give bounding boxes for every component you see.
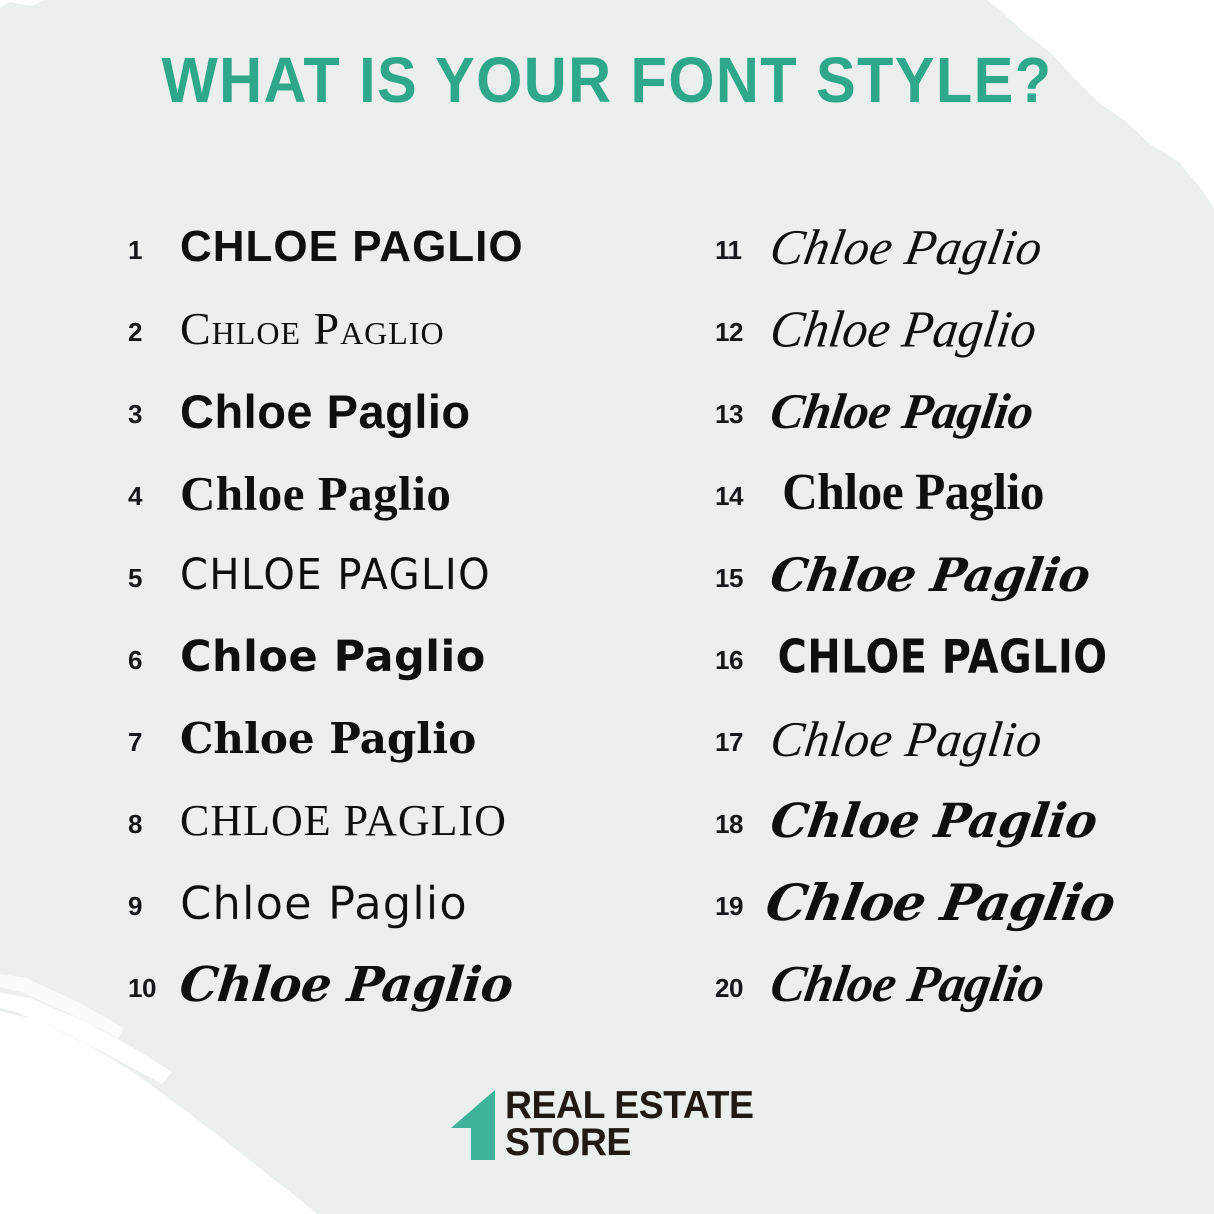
logo-line-2: STORE bbox=[505, 1124, 754, 1161]
list-item-number: 18 bbox=[715, 805, 771, 837]
list-item-number: 14 bbox=[715, 477, 771, 509]
font-sample-10: Chloe Paglio bbox=[177, 961, 629, 1009]
font-sample-14: Chloe Paglio bbox=[782, 467, 1203, 519]
list-item-number: 3 bbox=[128, 395, 180, 427]
page-title: WHAT IS YOUR FONT STYLE? bbox=[42, 48, 1171, 112]
list-item-number: 15 bbox=[715, 559, 771, 591]
list-item[interactable]: 2 Chloe Paglio bbox=[128, 288, 627, 370]
font-sample-18: Chloe Paglio bbox=[768, 798, 1214, 845]
font-sample-11: Chloe Paglio bbox=[767, 222, 1214, 272]
font-specimen-list: 1 Chloe Paglio 2 Chloe Paglio 3 Chloe Pa… bbox=[0, 206, 1214, 1036]
font-sample-7: Chloe Paglio bbox=[180, 718, 627, 760]
font-sample-8: Chloe Paglio bbox=[180, 799, 627, 843]
list-item[interactable]: 14 Chloe Paglio bbox=[715, 452, 1214, 534]
logo-inner: REAL ESTATE STORE bbox=[451, 1087, 764, 1162]
brush-stroke-top-left-icon bbox=[0, 0, 66, 36]
list-item[interactable]: 9 Chloe Paglio bbox=[128, 862, 627, 944]
logo-wordmark: REAL ESTATE STORE bbox=[505, 1087, 764, 1162]
list-item[interactable]: 4 Chloe Paglio bbox=[128, 452, 627, 534]
list-item[interactable]: 7 Chloe Paglio bbox=[128, 698, 627, 780]
list-item-number: 2 bbox=[128, 313, 180, 345]
font-sample-17: Chloe Paglio bbox=[768, 714, 1214, 764]
font-sample-13: Chloe Paglio bbox=[767, 386, 1214, 436]
list-item-number: 4 bbox=[128, 477, 180, 509]
font-sample-12: Chloe Paglio bbox=[767, 303, 1214, 355]
list-item[interactable]: 17 Chloe Paglio bbox=[715, 698, 1214, 780]
list-item[interactable]: 6 Chloe Paglio bbox=[128, 616, 627, 698]
font-sample-6: Chloe Paglio bbox=[180, 636, 627, 679]
list-item[interactable]: 1 Chloe Paglio bbox=[128, 206, 627, 288]
font-sample-16: Chloe Paglio bbox=[778, 634, 1208, 680]
font-sample-4: Chloe Paglio bbox=[180, 469, 627, 518]
list-item-number: 11 bbox=[715, 231, 771, 263]
font-sample-2: Chloe Paglio bbox=[180, 306, 627, 352]
list-item-number: 9 bbox=[128, 887, 180, 919]
font-sample-20: Chloe Paglio bbox=[767, 959, 1214, 1011]
list-item-number: 6 bbox=[128, 641, 180, 673]
list-item-number: 8 bbox=[128, 805, 180, 837]
list-item-number: 13 bbox=[715, 395, 771, 427]
list-item-number: 12 bbox=[715, 313, 771, 345]
list-item-number: 10 bbox=[128, 969, 180, 1001]
list-item-number: 19 bbox=[715, 887, 771, 919]
list-item-number: 1 bbox=[128, 231, 180, 263]
list-item[interactable]: 18 Chloe Paglio bbox=[715, 780, 1214, 862]
font-sample-19: Chloe Paglio bbox=[762, 878, 1214, 928]
list-item[interactable]: 8 Chloe Paglio bbox=[128, 780, 627, 862]
list-item[interactable]: 12 Chloe Paglio bbox=[715, 288, 1214, 370]
font-sample-5: Chloe Paglio bbox=[180, 554, 627, 596]
font-sample-3: Chloe Paglio bbox=[180, 388, 627, 435]
list-item-number: 7 bbox=[128, 723, 180, 755]
list-item[interactable]: 20 Chloe Paglio bbox=[715, 944, 1214, 1026]
list-item[interactable]: 3 Chloe Paglio bbox=[128, 370, 627, 452]
list-item[interactable]: 15 Chloe Paglio bbox=[715, 534, 1214, 616]
list-item[interactable]: 11 Chloe Paglio bbox=[715, 206, 1214, 288]
font-list-column-right: 11 Chloe Paglio 12 Chloe Paglio 13 Chloe… bbox=[627, 206, 1214, 1036]
house-arrow-icon bbox=[451, 1088, 495, 1160]
list-item-number: 16 bbox=[715, 641, 771, 673]
list-item-number: 5 bbox=[128, 559, 180, 591]
list-item[interactable]: 5 Chloe Paglio bbox=[128, 534, 627, 616]
list-item-number: 17 bbox=[715, 723, 771, 755]
list-item-number: 20 bbox=[715, 969, 771, 1001]
list-item[interactable]: 16 Chloe Paglio bbox=[715, 616, 1214, 698]
poster-canvas: WHAT IS YOUR FONT STYLE? 1 Chloe Paglio … bbox=[0, 0, 1214, 1214]
font-sample-9: Chloe Paglio bbox=[180, 881, 627, 926]
list-item[interactable]: 10 Chloe Paglio bbox=[128, 944, 627, 1026]
font-list-column-left: 1 Chloe Paglio 2 Chloe Paglio 3 Chloe Pa… bbox=[0, 206, 627, 1036]
footer-logo[interactable]: REAL ESTATE STORE bbox=[0, 1087, 1214, 1162]
list-item[interactable]: 19 Chloe Paglio bbox=[715, 862, 1214, 944]
font-sample-15: Chloe Paglio bbox=[767, 552, 1214, 598]
list-item[interactable]: 13 Chloe Paglio bbox=[715, 370, 1214, 452]
font-sample-1: Chloe Paglio bbox=[180, 225, 627, 269]
logo-line-1: REAL ESTATE bbox=[505, 1087, 754, 1124]
